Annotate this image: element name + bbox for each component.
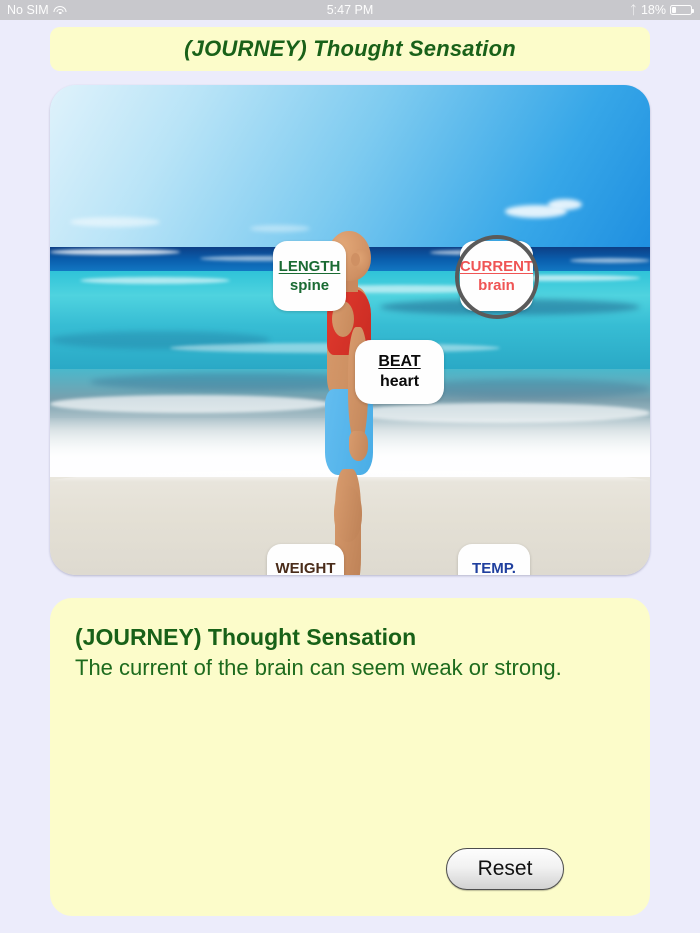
label-card-weight-body[interactable]: WEIGHT body bbox=[267, 544, 344, 575]
label-card-length-spine[interactable]: LENGTH spine bbox=[273, 241, 346, 311]
figure-calf bbox=[334, 486, 362, 542]
reset-button[interactable]: Reset bbox=[446, 848, 564, 890]
figure-hand bbox=[349, 431, 368, 461]
page-title: (JOURNEY) Thought Sensation bbox=[184, 36, 516, 62]
label-length-part: spine bbox=[290, 277, 329, 294]
battery-icon bbox=[670, 5, 692, 16]
label-card-beat-heart[interactable]: BEAT heart bbox=[355, 340, 444, 404]
figure-ear bbox=[351, 253, 360, 266]
label-length-title: LENGTH bbox=[279, 258, 341, 275]
info-panel: (JOURNEY) Thought Sensation The current … bbox=[50, 598, 650, 916]
bluetooth-icon: ᛏ bbox=[630, 4, 637, 16]
battery-percent-label: 18% bbox=[641, 0, 666, 20]
label-card-temp-toes[interactable]: TEMP. toes bbox=[458, 544, 530, 575]
label-temp-title: TEMP. bbox=[472, 560, 516, 576]
page-title-banner: (JOURNEY) Thought Sensation bbox=[50, 27, 650, 71]
label-beat-title: BEAT bbox=[378, 353, 420, 371]
status-bar: No SIM 5:47 PM ᛏ 18% bbox=[0, 0, 700, 20]
status-bar-clock: 5:47 PM bbox=[0, 0, 700, 20]
info-panel-title: (JOURNEY) Thought Sensation bbox=[75, 624, 625, 651]
label-beat-part: heart bbox=[380, 373, 419, 391]
status-bar-right: ᛏ 18% bbox=[630, 0, 692, 20]
label-weight-title: WEIGHT bbox=[276, 560, 336, 576]
info-panel-body: The current of the brain can seem weak o… bbox=[75, 654, 625, 682]
scene-stage[interactable]: LENGTH spine CURRENT brain BEAT heart WE… bbox=[50, 85, 650, 575]
selection-ring-icon bbox=[455, 235, 539, 319]
sky-background bbox=[50, 85, 650, 247]
